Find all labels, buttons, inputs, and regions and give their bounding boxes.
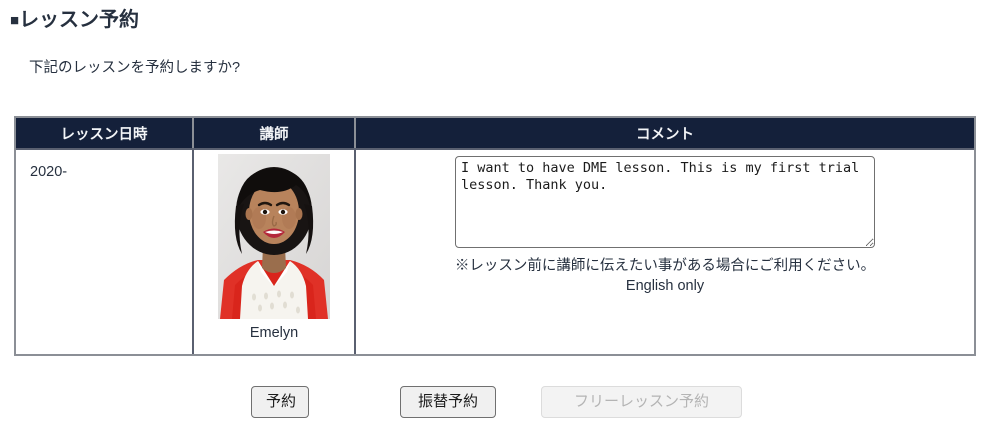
teacher-name: Emelyn xyxy=(250,325,298,341)
comment-textarea[interactable] xyxy=(455,156,875,248)
table-header-row: レッスン日時 講師 コメント xyxy=(16,118,974,149)
reserve-button[interactable]: 予約 xyxy=(251,386,309,418)
teacher-photo xyxy=(218,154,330,319)
column-header-datetime: レッスン日時 xyxy=(16,118,193,149)
free-lesson-reserve-button: フリーレッスン予約 xyxy=(541,386,742,418)
comment-note-line2: English only xyxy=(626,278,704,294)
column-header-comment: コメント xyxy=(355,118,974,149)
cell-lesson-datetime: 2020- xyxy=(16,149,193,354)
cell-comment: ※レッスン前に講師に伝えたい事がある場合にご利用ください。 English on… xyxy=(355,149,974,354)
page-subtitle: 下記のレッスンを予約しますか? xyxy=(29,56,240,77)
column-header-teacher: 講師 xyxy=(193,118,355,149)
button-bar: 予約 振替予約 フリーレッスン予約 xyxy=(0,386,990,420)
cell-teacher: Emelyn xyxy=(193,149,355,354)
page-title: ■レッスン予約 xyxy=(10,3,139,32)
comment-note-line1: ※レッスン前に講師に伝えたい事がある場合にご利用ください。 xyxy=(455,254,875,275)
page-title-text: レッスン予約 xyxy=(19,9,139,31)
bullet-square-icon: ■ xyxy=(10,12,19,29)
transfer-reserve-button[interactable]: 振替予約 xyxy=(400,386,496,418)
lesson-datetime-value: 2020- xyxy=(16,150,192,180)
booking-table: レッスン日時 講師 コメント 2020- xyxy=(14,116,976,356)
table-row: 2020- xyxy=(16,149,974,354)
